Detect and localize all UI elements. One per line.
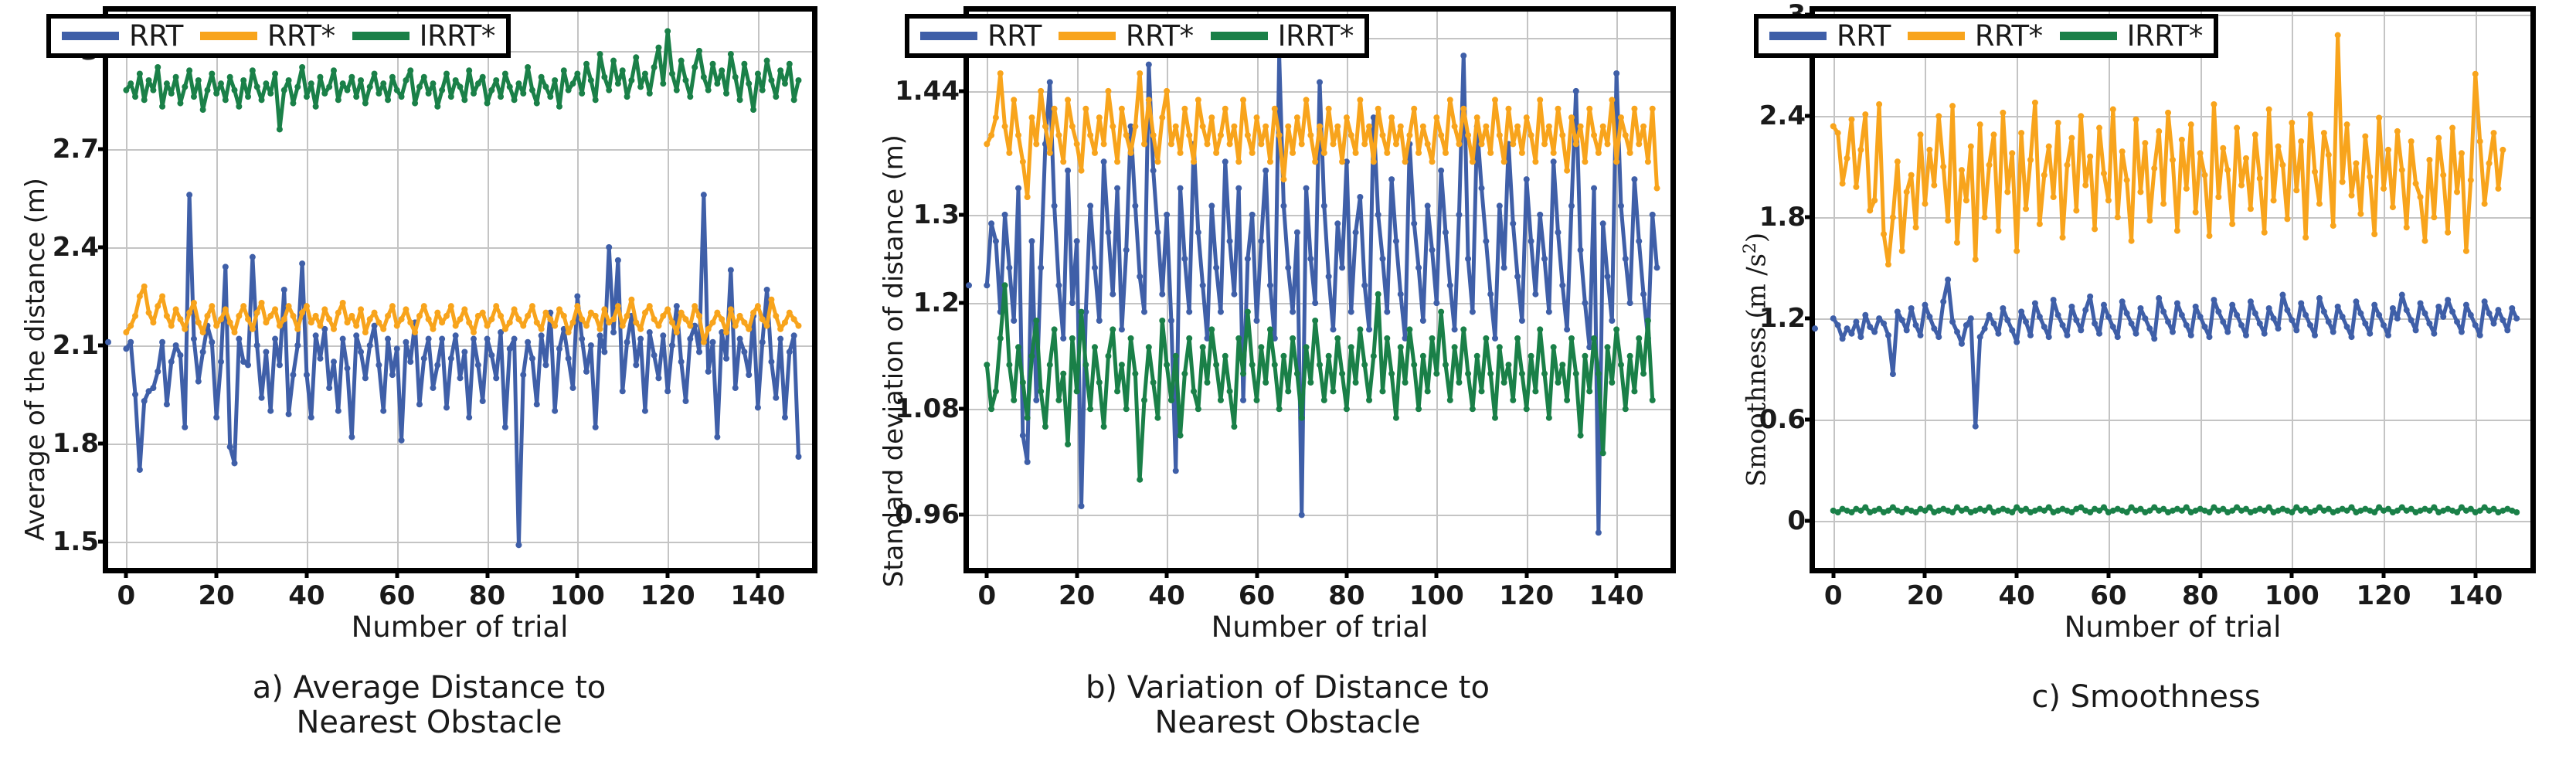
y-tick-label: 2.7 — [53, 134, 99, 165]
y-tick-mark — [959, 407, 969, 411]
panel-caption-line2: Nearest Obstacle — [1154, 705, 1420, 740]
y-tick-mark — [959, 513, 969, 517]
y-tick-mark — [959, 89, 969, 93]
legend-swatch-rrtstar — [1908, 32, 1965, 40]
legend-swatch-rrt — [1769, 32, 1827, 40]
legend-label: RRT — [987, 22, 1042, 50]
legend-swatch-irrtstar — [2060, 32, 2117, 40]
y-axis-label: Smoothness (m /s2) — [1740, 233, 1772, 487]
y-tick-mark — [98, 442, 108, 446]
x-tick-label: 80 — [1328, 580, 1364, 611]
legend-label: RRT* — [1975, 22, 2043, 50]
x-tick-mark — [304, 568, 308, 578]
y-tick-mark — [1805, 317, 1815, 321]
x-tick-label: 0 — [1824, 580, 1843, 611]
y-tick-mark — [1805, 518, 1815, 522]
legend-swatch-rrt — [920, 32, 977, 40]
x-tick-mark — [1923, 568, 1927, 578]
x-tick-mark — [1075, 568, 1079, 578]
x-tick-mark — [666, 568, 670, 578]
x-tick-label: 40 — [1999, 580, 2035, 611]
y-tick-mark — [98, 245, 108, 249]
legend: RRTRRT*IRRT* — [1754, 14, 2218, 58]
x-tick-label: 120 — [641, 580, 695, 611]
x-tick-mark — [1344, 568, 1348, 578]
x-tick-mark — [1524, 568, 1528, 578]
y-tick-label: 1.2 — [1759, 303, 1806, 334]
panel-b-variation-distance: Standard deviation of distance (m)0.961.… — [858, 0, 1717, 782]
series-rrt — [1812, 277, 2520, 430]
y-tick-label: 2.4 — [1759, 100, 1806, 131]
x-tick-label: 60 — [2090, 580, 2126, 611]
legend-swatch-rrtstar — [200, 32, 257, 40]
series-canvas — [108, 12, 812, 568]
panel-c-smoothness: Smoothness (m /s2)00.61.21.82.4302040608… — [1717, 0, 2575, 782]
x-tick-mark — [985, 568, 989, 578]
legend-item-irrtstar: IRRT* — [1211, 22, 1354, 50]
x-tick-label: 20 — [198, 580, 234, 611]
legend-swatch-rrt — [62, 32, 119, 40]
x-axis-label: Number of trial — [2065, 610, 2282, 644]
legend-label: RRT — [1837, 22, 1891, 50]
legend-label: IRRT* — [2127, 22, 2203, 50]
y-tick-label: 0 — [1787, 505, 1806, 536]
series-rrtstar — [1830, 32, 2506, 268]
y-tick-label: 2.4 — [53, 232, 99, 263]
x-tick-mark — [395, 568, 399, 578]
x-tick-label: 60 — [1239, 580, 1275, 611]
legend-item-rrt: RRT — [1769, 22, 1891, 50]
y-tick-label: 1.8 — [1759, 202, 1806, 233]
y-tick-mark — [959, 301, 969, 305]
series-rrt — [105, 192, 801, 548]
x-tick-mark — [124, 568, 128, 578]
x-tick-label: 140 — [2448, 580, 2503, 611]
panel-caption: a) Average Distance toNearest Obstacle — [0, 671, 858, 740]
y-tick-label: 0.96 — [895, 499, 960, 530]
legend-item-irrtstar: IRRT* — [352, 22, 495, 50]
x-tick-label: 20 — [1059, 580, 1095, 611]
legend-item-rrtstar: RRT* — [1059, 22, 1194, 50]
y-tick-mark — [959, 212, 969, 216]
x-tick-label: 100 — [1409, 580, 1464, 611]
panel-caption: b) Variation of Distance toNearest Obsta… — [858, 671, 1717, 740]
legend-item-rrtstar: RRT* — [1908, 22, 2043, 50]
x-tick-label: 20 — [1907, 580, 1943, 611]
x-tick-mark — [485, 568, 489, 578]
legend: RRTRRT*IRRT* — [905, 14, 1369, 58]
x-tick-label: 80 — [2182, 580, 2218, 611]
y-tick-label: 1.8 — [53, 428, 99, 459]
y-tick-label: 1.3 — [913, 199, 960, 230]
x-tick-label: 100 — [550, 580, 605, 611]
x-tick-label: 120 — [2357, 580, 2411, 611]
y-tick-label: 1.5 — [53, 526, 99, 557]
plot-area: 0.961.081.21.31.441.5020406080100120140 — [963, 6, 1676, 573]
plot-area: 00.61.21.82.43020406080100120140 — [1810, 6, 2536, 573]
legend-swatch-rrtstar — [1059, 32, 1116, 40]
legend-item-rrt: RRT — [920, 22, 1042, 50]
x-tick-label: 40 — [1148, 580, 1184, 611]
legend-swatch-irrtstar — [1211, 32, 1268, 40]
series-canvas — [969, 12, 1670, 568]
x-tick-mark — [576, 568, 579, 578]
series-irrtstar — [1830, 504, 2520, 515]
y-tick-mark — [1805, 114, 1815, 118]
x-tick-mark — [1615, 568, 1619, 578]
legend-swatch-irrtstar — [352, 32, 410, 40]
x-axis-label: Number of trial — [1212, 610, 1429, 644]
x-tick-label: 140 — [1589, 580, 1644, 611]
plot-area: 1.51.82.12.42.73020406080100120140 — [103, 6, 817, 573]
x-tick-mark — [2015, 568, 2019, 578]
y-tick-mark — [98, 540, 108, 544]
x-tick-label: 60 — [379, 580, 415, 611]
panel-caption: c) Smoothness — [1717, 680, 2575, 715]
x-tick-label: 120 — [1499, 580, 1554, 611]
y-tick-label: 1.08 — [895, 393, 960, 424]
x-tick-label: 140 — [730, 580, 785, 611]
y-tick-label: 2.1 — [53, 330, 99, 361]
legend-item-rrt: RRT — [62, 22, 183, 50]
x-tick-label: 80 — [469, 580, 505, 611]
x-tick-label: 40 — [288, 580, 325, 611]
y-tick-label: 1.44 — [895, 76, 960, 107]
legend-label: IRRT* — [420, 22, 495, 50]
x-tick-mark — [2473, 568, 2477, 578]
panel-a-average-distance: Average of the distance (m)1.51.82.12.42… — [0, 0, 858, 782]
legend-item-rrtstar: RRT* — [200, 22, 335, 50]
y-tick-label: 0.6 — [1759, 404, 1806, 435]
x-tick-mark — [215, 568, 219, 578]
x-tick-label: 0 — [977, 580, 996, 611]
panel-caption-line2: Nearest Obstacle — [296, 705, 562, 740]
x-tick-mark — [2382, 568, 2386, 578]
x-tick-mark — [1255, 568, 1259, 578]
y-tick-mark — [98, 147, 108, 151]
legend: RRTRRT*IRRT* — [46, 14, 511, 58]
x-tick-mark — [756, 568, 760, 578]
y-tick-mark — [1805, 216, 1815, 219]
x-tick-label: 100 — [2265, 580, 2319, 611]
y-tick-label: 1.2 — [913, 287, 960, 318]
figure-three-panel-comparison: Average of the distance (m)1.51.82.12.42… — [0, 0, 2576, 782]
y-tick-mark — [1805, 418, 1815, 422]
legend-label: RRT* — [1126, 22, 1194, 50]
x-tick-mark — [1165, 568, 1169, 578]
legend-label: RRT* — [267, 22, 335, 50]
series-canvas — [1815, 12, 2530, 568]
x-tick-label: 0 — [117, 580, 136, 611]
y-axis-label: Average of the distance (m) — [20, 178, 51, 541]
legend-label: IRRT* — [1278, 22, 1354, 50]
x-tick-mark — [2198, 568, 2202, 578]
x-tick-mark — [1831, 568, 1835, 578]
x-axis-label: Number of trial — [352, 610, 569, 644]
x-tick-mark — [2290, 568, 2294, 578]
x-tick-mark — [1435, 568, 1439, 578]
legend-item-irrtstar: IRRT* — [2060, 22, 2203, 50]
x-tick-mark — [2106, 568, 2110, 578]
legend-label: RRT — [129, 22, 183, 50]
